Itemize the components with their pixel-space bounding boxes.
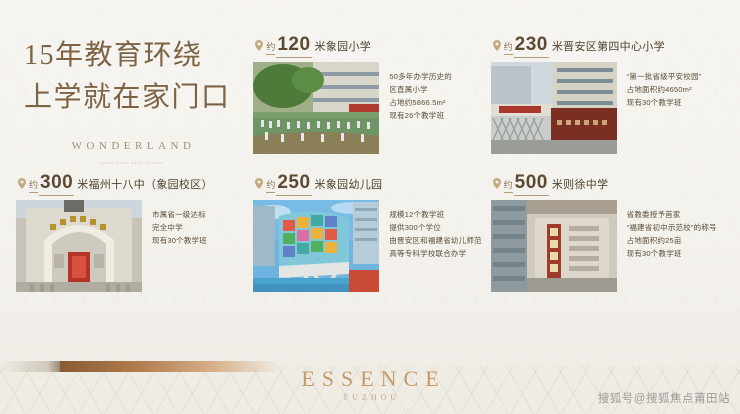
school-facts: 市属省一级达标 完全中学 现有30个教学班 bbox=[142, 200, 207, 292]
location-pin-icon bbox=[18, 178, 26, 189]
watermark: 搜狐号@搜狐焦点莆田站 bbox=[598, 390, 730, 406]
location-pin-icon bbox=[493, 40, 501, 51]
school-name: 米则徐中学 bbox=[552, 176, 609, 192]
fact-item: 提供300个学位 bbox=[389, 221, 481, 234]
school-photo bbox=[253, 62, 379, 154]
distance-prefix: 约 bbox=[29, 178, 38, 193]
school-photo bbox=[16, 200, 142, 292]
card-row-bottom: 约 300 米福州十八中（象园校区） bbox=[16, 172, 728, 292]
brand-name: ESSENCE bbox=[0, 366, 740, 392]
school-card-xiangyuan-kindergarten[interactable]: 约 250 米象园幼儿园 bbox=[253, 172, 490, 292]
school-card-fuzhou-18th-middle[interactable]: 约 300 米福州十八中（象园校区） bbox=[16, 172, 253, 292]
fact-item: 由晋安区和福建省幼儿师范 bbox=[389, 234, 481, 247]
fact-item: 完全中学 bbox=[152, 221, 207, 234]
card-heading: 约 120 米象园小学 bbox=[253, 34, 484, 54]
school-facts: 50多年办学历史的 区直属小学 占地约5866.5m² 现有26个教学班 bbox=[379, 62, 452, 154]
distance-value: 300 bbox=[39, 172, 74, 196]
fact-item: 现有30个教学班 bbox=[627, 247, 717, 260]
fact-item: 占地面积约4650m² bbox=[627, 83, 702, 96]
card-body: 市属省一级达标 完全中学 现有30个教学班 bbox=[16, 200, 247, 292]
fact-item: 高等专科学校联合办学 bbox=[389, 247, 481, 260]
school-photo bbox=[253, 200, 379, 292]
location-pin-icon bbox=[255, 178, 263, 189]
distance-prefix: 约 bbox=[266, 178, 275, 193]
card-body: “第一批省级平安校园” 占地面积约4650m² 现有30个教学班 bbox=[491, 62, 722, 154]
school-facts: 规模12个教学班 提供300个学位 由晋安区和福建省幼儿师范 高等专科学校联合办… bbox=[379, 200, 481, 292]
card-body: 规模12个教学班 提供300个学位 由晋安区和福建省幼儿师范 高等专科学校联合办… bbox=[253, 200, 484, 292]
distance-value: 250 bbox=[276, 172, 311, 196]
card-body: 50多年办学历史的 区直属小学 占地约5866.5m² 现有26个教学班 bbox=[253, 62, 484, 154]
school-name: 米晋安区第四中心小学 bbox=[552, 38, 665, 54]
school-facts: 省教委授予首家 “福建省初中示范校”的称号 占地面积约25亩 现有30个教学班 bbox=[617, 200, 717, 292]
school-name: 米福州十八中（象园校区） bbox=[77, 176, 213, 192]
fact-item: 占地约5866.5m² bbox=[389, 96, 452, 109]
fact-item: 省教委授予首家 bbox=[627, 208, 717, 221]
card-heading: 约 300 米福州十八中（象园校区） bbox=[16, 172, 247, 192]
school-card-grid: 约 120 米象园小学 bbox=[16, 34, 728, 292]
fact-item: 市属省一级达标 bbox=[152, 208, 207, 221]
school-card-jinan-4th-central-primary[interactable]: 约 230 米晋安区第四中心小学 bbox=[491, 34, 728, 154]
card-heading: 约 250 米象园幼儿园 bbox=[253, 172, 484, 192]
fact-item: 现有26个教学班 bbox=[389, 109, 452, 122]
location-pin-icon bbox=[255, 40, 263, 51]
fact-item: 现有30个教学班 bbox=[627, 96, 702, 109]
school-card-xiangyuan-primary[interactable]: 约 120 米象园小学 bbox=[253, 34, 490, 154]
distance-prefix: 约 bbox=[504, 40, 513, 55]
fact-item: “第一批省级平安校园” bbox=[627, 70, 702, 83]
card-heading: 约 230 米晋安区第四中心小学 bbox=[491, 34, 722, 54]
fact-item: 现有30个教学班 bbox=[152, 234, 207, 247]
fact-item: 区直属小学 bbox=[389, 83, 452, 96]
poster-page: 15年教育环绕 上学就在家门口 WONDERLAND Lorem ipsum d… bbox=[0, 0, 740, 414]
card-row-top: 约 120 米象园小学 bbox=[16, 34, 728, 154]
distance-prefix: 约 bbox=[266, 40, 275, 55]
distance-prefix: 约 bbox=[504, 178, 513, 193]
distance-value: 230 bbox=[514, 34, 549, 58]
fact-item: 50多年办学历史的 bbox=[389, 70, 452, 83]
school-facts: “第一批省级平安校园” 占地面积约4650m² 现有30个教学班 bbox=[617, 62, 702, 154]
fact-item: 占地面积约25亩 bbox=[627, 234, 717, 247]
school-name: 米象园小学 bbox=[315, 38, 372, 54]
school-photo bbox=[491, 200, 617, 292]
school-card-zexu-middle-school[interactable]: 约 500 米则徐中学 bbox=[491, 172, 728, 292]
school-name: 米象园幼儿园 bbox=[315, 176, 383, 192]
school-photo bbox=[491, 62, 617, 154]
fact-item: 规模12个教学班 bbox=[389, 208, 481, 221]
location-pin-icon bbox=[493, 178, 501, 189]
card-heading: 约 500 米则徐中学 bbox=[491, 172, 722, 192]
distance-value: 120 bbox=[276, 34, 311, 58]
card-body: 省教委授予首家 “福建省初中示范校”的称号 占地面积约25亩 现有30个教学班 bbox=[491, 200, 722, 292]
distance-value: 500 bbox=[514, 172, 549, 196]
fact-item: “福建省初中示范校”的称号 bbox=[627, 221, 717, 234]
